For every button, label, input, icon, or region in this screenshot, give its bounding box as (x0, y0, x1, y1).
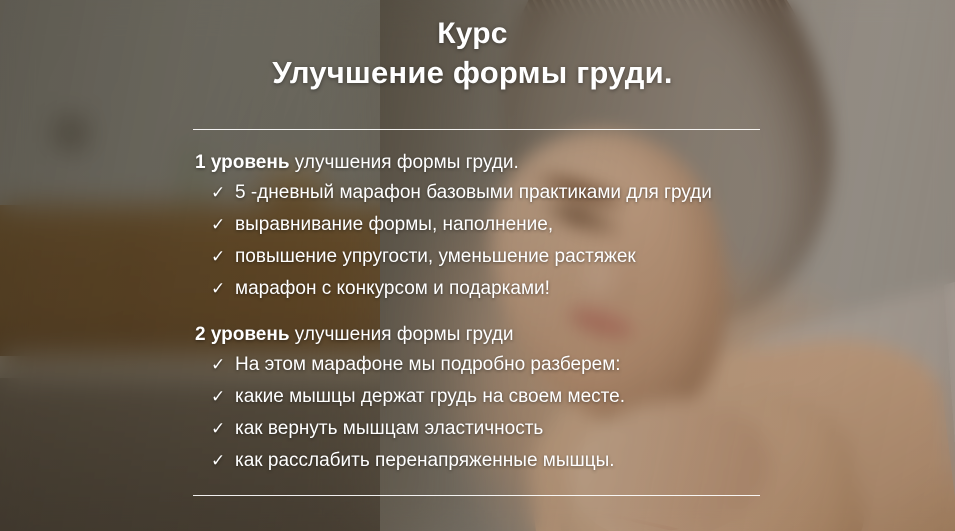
section-1-list: ✓ 5 -дневный марафон базовыми практиками… (195, 177, 795, 305)
section-2-heading: 2 уровень улучшения формы груди (195, 320, 795, 349)
check-mark-icon: ✓ (211, 381, 235, 413)
section-1-heading: 1 уровень улучшения формы груди. (195, 148, 795, 177)
page-title: Курс Улучшение формы груди. (190, 14, 755, 92)
list-item: ✓ как расслабить перенапряженные мышцы. (195, 445, 795, 477)
section-2-list: ✓ На этом марафоне мы подробно разберем:… (195, 349, 795, 477)
section-level-1: 1 уровень улучшения формы груди. ✓ 5 -дн… (195, 148, 795, 305)
divider-top (193, 129, 760, 130)
check-mark-icon: ✓ (211, 445, 235, 477)
section-level-2: 2 уровень улучшения формы груди ✓ На это… (195, 320, 795, 477)
title-line-2: Улучшение формы груди. (190, 53, 755, 92)
list-item-label: повышение упругости, уменьшение растяжек (235, 241, 636, 273)
check-mark-icon: ✓ (211, 273, 235, 305)
section-1-heading-lead: 1 уровень (195, 152, 290, 173)
list-item-label: как вернуть мышцам эластичность (235, 413, 543, 445)
section-2-heading-lead: 2 уровень (195, 324, 290, 345)
list-item-label: 5 -дневный марафон базовыми практиками д… (235, 177, 712, 209)
list-item: ✓ какие мышцы держат грудь на своем мест… (195, 381, 795, 413)
list-item-label: выравнивание формы, наполнение, (235, 209, 553, 241)
check-mark-icon: ✓ (211, 209, 235, 241)
list-item: ✓ повышение упругости, уменьшение растяж… (195, 241, 795, 273)
title-line-1: Курс (190, 14, 755, 53)
section-2-heading-rest: улучшения формы груди (290, 324, 514, 345)
section-1-heading-rest: улучшения формы груди. (290, 152, 519, 173)
check-mark-icon: ✓ (211, 413, 235, 445)
list-item-label: На этом марафоне мы подробно разберем: (235, 349, 621, 381)
check-mark-icon: ✓ (211, 177, 235, 209)
banner-content: Курс Улучшение формы груди. 1 уровень ул… (0, 0, 955, 531)
list-item: ✓ выравнивание формы, наполнение, (195, 209, 795, 241)
list-item: ✓ как вернуть мышцам эластичность (195, 413, 795, 445)
divider-bottom (193, 495, 760, 496)
list-item: ✓ марафон с конкурсом и подарками! (195, 273, 795, 305)
list-item-label: марафон с конкурсом и подарками! (235, 273, 550, 305)
check-mark-icon: ✓ (211, 241, 235, 273)
list-item: ✓ 5 -дневный марафон базовыми практиками… (195, 177, 795, 209)
check-mark-icon: ✓ (211, 349, 235, 381)
list-item-label: как расслабить перенапряженные мышцы. (235, 445, 615, 477)
list-item-label: какие мышцы держат грудь на своем месте. (235, 381, 625, 413)
list-item: ✓ На этом марафоне мы подробно разберем: (195, 349, 795, 381)
promo-banner: Курс Улучшение формы груди. 1 уровень ул… (0, 0, 955, 531)
